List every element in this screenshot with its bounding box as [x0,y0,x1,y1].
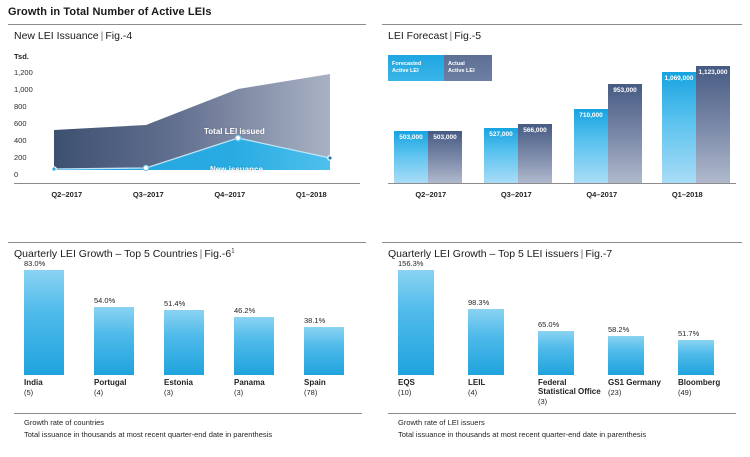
fig7-bar-leil[interactable] [468,309,504,375]
fig6-category-panama: Panama (3) [234,378,300,398]
fig6-bar-spain[interactable] [304,327,344,375]
fig7-value-gs1-germany: 58.2% [608,325,644,334]
fig7-category-sub-federal-statistical-office: (3) [538,397,606,406]
fig6-value-india: 83.0% [24,259,64,268]
fig7-footnote-divider [388,413,736,414]
fig5-title-text: LEI Forecast [388,30,448,42]
fig4-label-total-lei-issued: Total LEI issued [204,127,265,136]
fig5-value-forecast-q2-2017: 503,000 [394,134,428,141]
fig5-group-q2-2017: 503,000 503,000 [394,131,462,183]
fig6-value-portugal: 54.0% [94,296,134,305]
fig6-category-sub-panama: (3) [234,388,300,397]
fig7-category-sub-bloomberg: (49) [678,388,744,397]
fig5-x-axis [388,183,736,184]
panel-divider [8,242,366,243]
fig6-bar-portugal[interactable] [94,307,134,375]
fig4-x-axis [14,183,360,184]
fig5-xlabel-q3-2017: Q3–2017 [474,190,560,199]
fig7-category-name-leil: LEIL [468,378,534,387]
fig5-value-forecast-q4-2017: 710,000 [574,112,608,119]
page-title: Growth in Total Number of Active LEIs [8,6,212,18]
fig4-xlabel-q3-2017: Q3–2017 [108,190,190,199]
fig7-figure-label: Fig.-7 [585,248,612,260]
fig6-bar-group-estonia: 51.4% [164,310,204,375]
fig7-category-name-federal-statistical-office: Federal Statistical Office [538,378,606,396]
panel-new-lei-issuance: New LEI Issuance|Fig.-4 Tsd. 1,200 1,000… [8,24,366,224]
fig7-category-federal-statistical-office: Federal Statistical Office (3) [538,378,606,407]
fig6-category-india: India (5) [24,378,90,398]
fig6-category-sub-india: (5) [24,388,90,397]
fig6-bar-group-india: 83.0% [24,270,64,375]
fig7-category-name-bloomberg: Bloomberg [678,378,744,387]
fig7-bar-bloomberg[interactable] [678,340,714,375]
fig4-xlabel-q4-2017: Q4–2017 [189,190,271,199]
fig7-value-bloomberg: 51.7% [678,329,714,338]
fig4-area-plot [44,68,334,176]
panel-top5-lei-issuers: Quarterly LEI Growth – Top 5 LEI issuers… [382,242,742,450]
fig6-bar-group-spain: 38.1% [304,327,344,375]
fig5-bar-actual-q1-2018[interactable]: 1,123,000 [696,66,730,183]
fig4-ytick-200: 200 [14,153,27,162]
fig4-ytick-1000: 1,000 [14,85,33,94]
fig4-point-q4-2017 [235,135,240,140]
report-page: Growth in Total Number of Active LEIs Ne… [0,0,750,457]
fig4-point-q3-2017 [143,165,148,170]
fig5-plot-area: 503,000 503,000 527,000 566,000 710,000 [388,62,734,183]
fig4-title: New LEI Issuance|Fig.-4 [14,30,132,42]
fig7-bar-group-eqs: 156.3% [398,270,434,375]
fig4-figure-label: Fig.-4 [105,30,132,42]
fig5-bar-actual-q3-2017[interactable]: 566,000 [518,124,552,183]
fig4-ytick-1200: 1,200 [14,68,33,77]
fig7-value-leil: 98.3% [468,298,504,307]
fig6-category-name-spain: Spain [304,378,370,387]
fig6-category-spain: Spain (78) [304,378,370,398]
fig6-footnote-2: Total issuance in thousands at most rece… [24,430,272,441]
fig6-category-sub-portugal: (4) [94,388,160,397]
fig5-figure-label: Fig.-5 [454,30,481,42]
fig4-x-labels: Q2–2017 Q3–2017 Q4–2017 Q1–2018 [26,190,352,199]
fig4-axis-unit: Tsd. [14,52,29,61]
fig5-value-forecast-q1-2018: 1,069,000 [662,75,696,82]
fig4-title-text: New LEI Issuance [14,30,99,42]
fig5-value-actual-q4-2017: 953,000 [608,87,642,94]
panel-divider [382,24,742,25]
fig6-footnote-divider [14,413,362,414]
panel-divider [8,24,366,25]
fig6-value-panama: 46.2% [234,306,274,315]
fig5-value-actual-q1-2018: 1,123,000 [696,69,730,76]
fig5-bar-forecast-q3-2017[interactable]: 527,000 [484,128,518,183]
fig7-value-federal-statistical-office: 65.0% [538,320,574,329]
fig7-category-sub-eqs: (10) [398,388,464,397]
fig7-bar-eqs[interactable] [398,270,434,375]
fig7-category-leil: LEIL (4) [468,378,534,398]
fig7-bar-group-bloomberg: 51.7% [678,340,714,375]
panel-top5-countries: Quarterly LEI Growth – Top 5 Countries|F… [8,242,366,450]
fig4-ytick-800: 800 [14,102,27,111]
fig6-bar-estonia[interactable] [164,310,204,375]
fig6-category-name-portugal: Portugal [94,378,160,387]
fig7-category-eqs: EQS (10) [398,378,464,398]
fig6-value-spain: 38.1% [304,316,344,325]
panel-lei-forecast: LEI Forecast|Fig.-5 Forecasted Active LE… [382,24,742,224]
fig6-bar-group-panama: 46.2% [234,317,274,375]
fig7-category-sub-leil: (4) [468,388,534,397]
fig7-category-name-gs1-germany: GS1 Germany [608,378,680,387]
fig7-bar-group-gs1-germany: 58.2% [608,336,644,375]
fig5-value-actual-q3-2017: 566,000 [518,127,552,134]
fig6-category-name-panama: Panama [234,378,300,387]
fig5-bar-actual-q2-2017[interactable]: 503,000 [428,131,462,183]
fig5-bar-forecast-q2-2017[interactable]: 503,000 [394,131,428,183]
fig6-category-sub-estonia: (3) [164,388,230,397]
fig5-xlabel-q2-2017: Q2–2017 [388,190,474,199]
fig7-footnote-2: Total issuance in thousands at most rece… [398,430,646,441]
fig7-category-bloomberg: Bloomberg (49) [678,378,744,398]
fig6-category-portugal: Portugal (4) [94,378,160,398]
fig7-category-name-eqs: EQS [398,378,464,387]
fig7-bar-group-federal-statistical-office: 65.0% [538,331,574,375]
fig5-xlabel-q4-2017: Q4–2017 [559,190,645,199]
fig5-x-labels: Q2–2017 Q3–2017 Q4–2017 Q1–2018 [388,190,730,199]
fig5-bar-actual-q4-2017[interactable]: 953,000 [608,84,642,183]
fig6-plot-area: 83.0% 54.0% 51.4% 46.2% 38.1% [16,270,362,375]
fig7-bar-federal-statistical-office[interactable] [538,331,574,375]
fig4-label-new-issuance: New issuance [210,165,263,174]
panel-divider [382,242,742,243]
fig6-category-sub-spain: (78) [304,388,370,397]
fig6-category-name-india: India [24,378,90,387]
fig7-value-eqs: 156.3% [398,259,434,268]
fig6-footnote-1: Growth rate of countries [24,418,104,429]
fig7-bar-gs1-germany[interactable] [608,336,644,375]
fig4-ytick-400: 400 [14,136,27,145]
fig6-value-estonia: 51.4% [164,299,204,308]
fig5-value-actual-q2-2017: 503,000 [428,134,462,141]
fig4-point-q1-2018 [328,156,332,160]
fig7-bar-group-leil: 98.3% [468,309,504,375]
fig5-value-forecast-q3-2017: 527,000 [484,131,518,138]
fig6-category-estonia: Estonia (3) [164,378,230,398]
fig5-group-q3-2017: 527,000 566,000 [484,124,552,183]
fig7-category-sub-gs1-germany: (23) [608,388,680,397]
fig5-bar-forecast-q1-2018[interactable]: 1,069,000 [662,72,696,183]
fig4-xlabel-q2-2017: Q2–2017 [26,190,108,199]
fig4-point-q2-2017 [52,167,56,171]
fig6-bar-panama[interactable] [234,317,274,375]
fig4-ytick-0: 0 [14,170,18,179]
fig7-category-gs1-germany: GS1 Germany (23) [608,378,680,398]
fig4-xlabel-q1-2018: Q1–2018 [271,190,353,199]
fig5-title: LEI Forecast|Fig.-5 [388,30,481,42]
fig7-footnote-1: Growth rate of LEI issuers [398,418,485,429]
fig6-bar-india[interactable] [24,270,64,375]
fig7-plot-area: 156.3% 98.3% 65.0% 58.2% 51.7% [390,270,736,375]
fig5-group-q4-2017: 710,000 953,000 [574,84,642,183]
fig5-bar-forecast-q4-2017[interactable]: 710,000 [574,109,608,183]
fig5-group-q1-2018: 1,069,000 1,123,000 [662,66,730,183]
fig4-ytick-600: 600 [14,119,27,128]
fig6-bar-group-portugal: 54.0% [94,307,134,375]
fig6-figure-label: Fig.-6 [204,248,231,260]
fig6-category-name-estonia: Estonia [164,378,230,387]
fig6-footnote-marker: 1 [231,249,234,255]
fig5-xlabel-q1-2018: Q1–2018 [645,190,731,199]
